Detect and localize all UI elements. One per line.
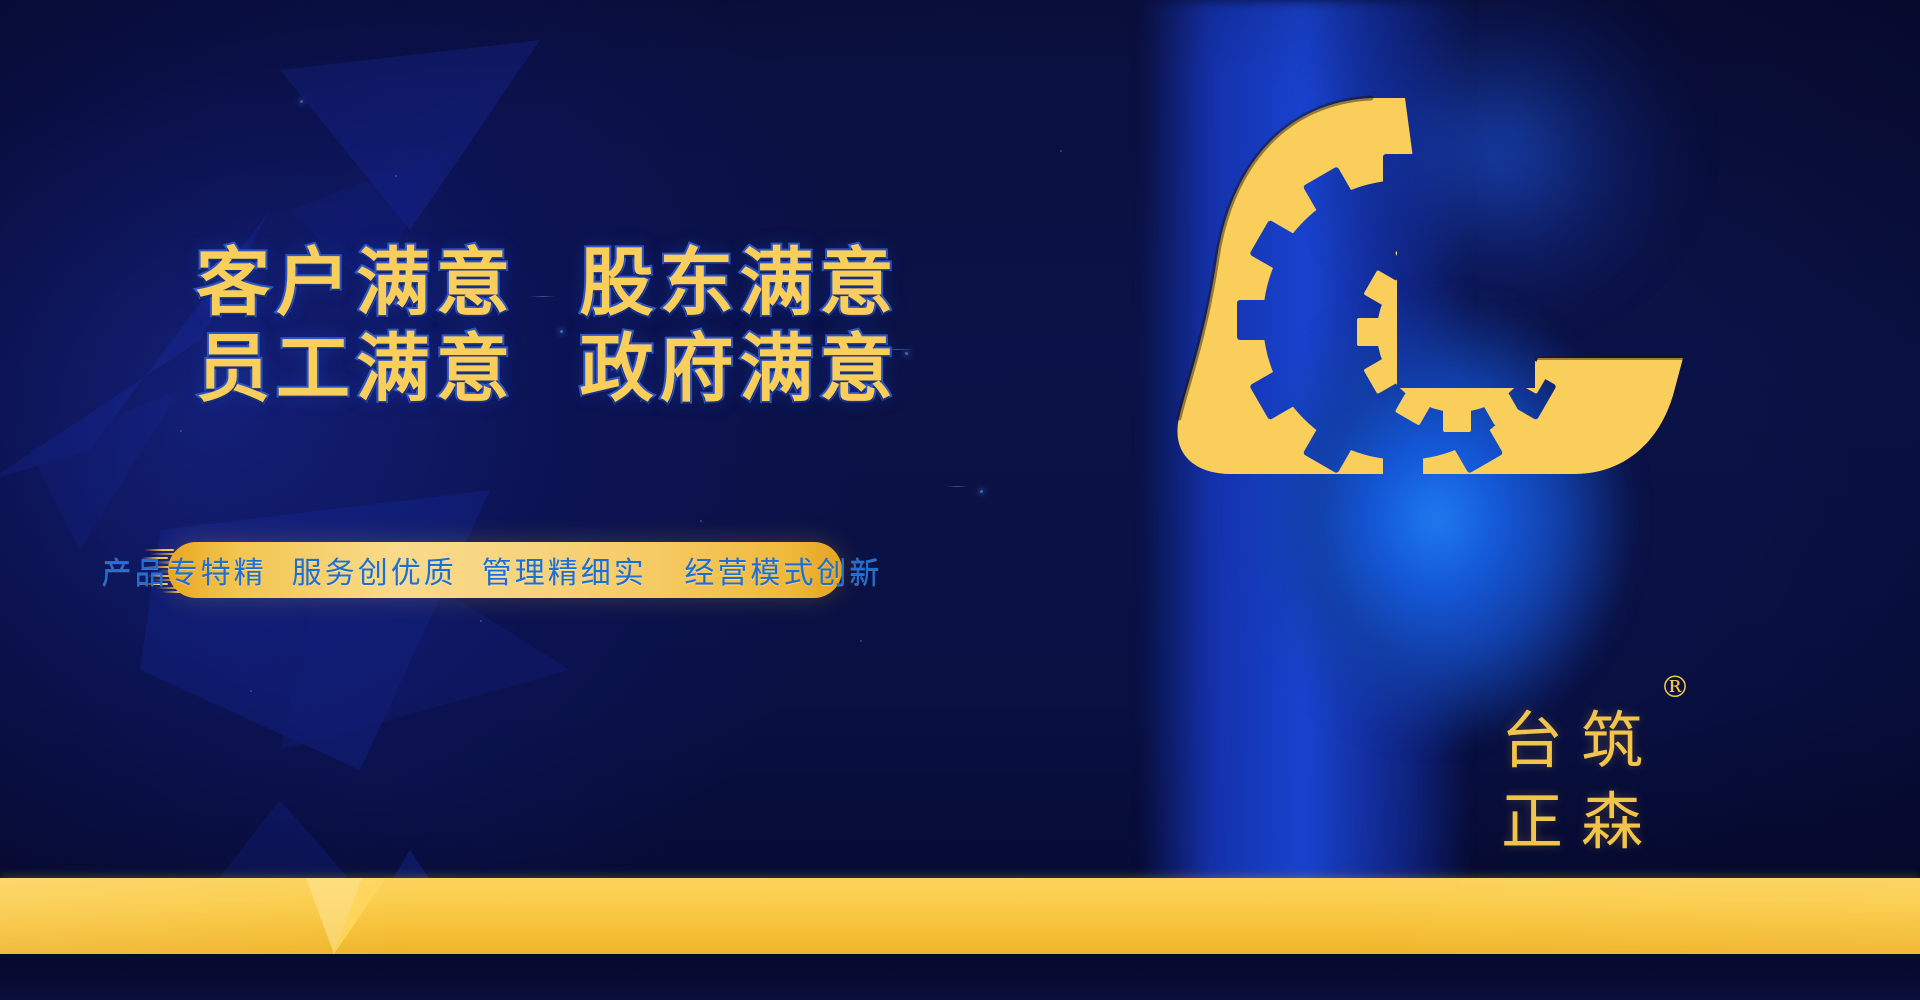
slogan-block: 客户满意 股东满意 员工满意 政府满意 [196, 240, 896, 412]
gold-bar-triangle-accent [300, 878, 410, 954]
company-wordmark: ® 台 筑 正 森 [1492, 700, 1672, 870]
slogan-line-2: 员工满意 政府满意 [196, 326, 896, 412]
gear-emblem-logo [1135, 88, 1695, 488]
banner-stage: 客户满意 股东满意 员工满意 政府满意 产品专特精 服务创优质 管理精细实 经营… [0, 0, 1920, 1000]
gold-bar-highlight [0, 878, 1920, 954]
slogan-line-1: 客户满意 股东满意 [196, 240, 896, 326]
wordmark-char-top-right: 筑 [1572, 700, 1652, 781]
tagline-text: 产品专特精 服务创优质 管理精细实 经营模式创新 [142, 542, 842, 598]
wordmark-char-bottom-left: 正 [1492, 781, 1572, 862]
wordmark-char-top-left: 台 [1492, 700, 1572, 781]
registered-trademark-icon: ® [1660, 670, 1690, 705]
logo-body [1177, 98, 1683, 474]
tagline-pill: 产品专特精 服务创优质 管理精细实 经营模式创新 [142, 542, 842, 598]
bottom-gold-bar [0, 878, 1920, 954]
wordmark-char-bottom-right: 森 [1572, 781, 1652, 862]
below-bar-strip [0, 954, 1920, 1000]
